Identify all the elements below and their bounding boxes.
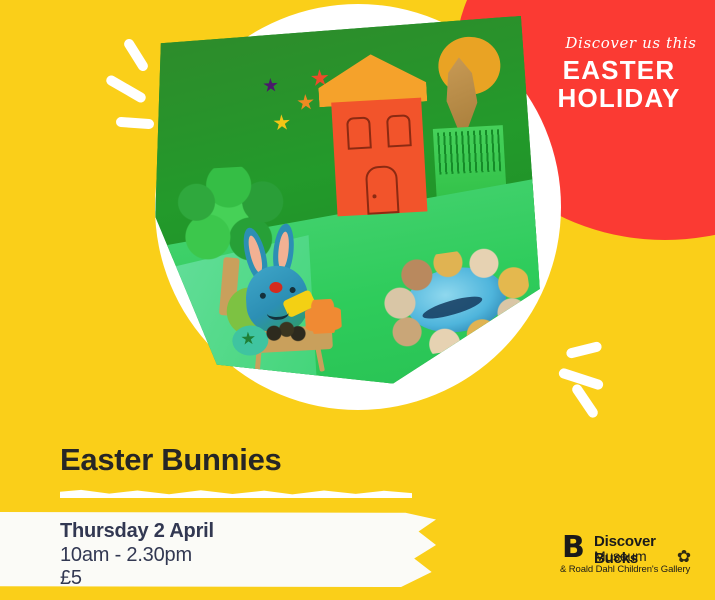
berry-cluster [265,320,306,344]
paper-house [325,52,426,217]
craft-photo [145,16,545,397]
house-window [346,116,372,149]
museum-logo: B Discover Bucks Museum & Roald Dahl Chi… [558,531,698,577]
poster-canvas: Discover us this EASTER HOLIDAY Easter B… [0,0,715,600]
event-price: £5 [60,567,82,590]
logo-monogram: B [562,533,585,563]
logo-flourish-icon: ✿ [672,545,696,569]
house-door [365,165,400,215]
event-time: 10am - 2.30pm [60,544,192,567]
promo-headline-line2: HOLIDAY [531,84,707,113]
sparkle-dash-icon [116,117,155,130]
house-window [386,114,412,147]
bunny-craft [218,223,335,359]
paper-pond [376,242,536,360]
event-date: Thursday 2 April [60,520,214,543]
sparkle-dash-icon [565,341,602,359]
promo-headline-line1: EASTER [531,56,707,85]
event-title: Easter Bunnies [60,442,282,478]
brush-divider [60,489,412,498]
logo-line-2: Museum [594,548,646,564]
logo-line-3: & Roald Dahl Children's Gallery [560,564,690,575]
sparkle-dash-icon [104,74,147,105]
promo-script-line: Discover us this [556,34,706,52]
paper-flower-icon [304,298,342,334]
craft-photo-frame [145,16,545,397]
pond-rocks [376,242,536,360]
